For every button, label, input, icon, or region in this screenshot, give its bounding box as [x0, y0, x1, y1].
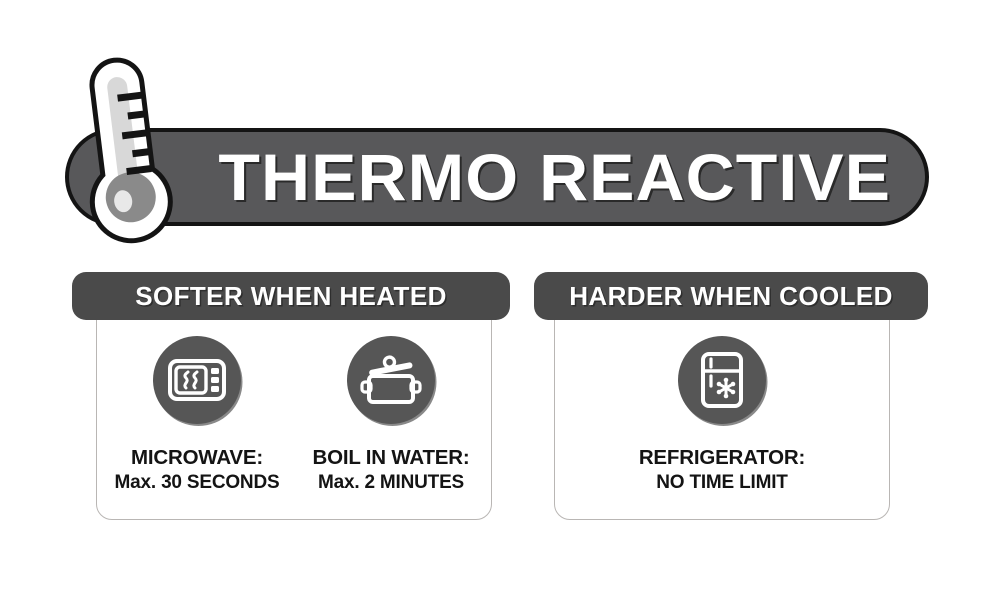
- caption-title: BOIL IN WATER:: [312, 446, 469, 470]
- items-harder-when-cooled: REFRIGERATOR: NO TIME LIMIT: [554, 336, 890, 495]
- items-softer-when-heated: MICROWAVE: Max. 30 SECONDS: [96, 336, 492, 495]
- card-header-softer-when-heated: SOFTER WHEN HEATED: [72, 272, 510, 320]
- caption-subtitle: Max. 2 MINUTES: [312, 472, 469, 494]
- caption-refrigerator: REFRIGERATOR: NO TIME LIMIT: [639, 446, 805, 495]
- card-header-harder-when-cooled: HARDER WHEN COOLED: [534, 272, 928, 320]
- item-refrigerator: REFRIGERATOR: NO TIME LIMIT: [632, 336, 812, 495]
- caption-microwave: MICROWAVE: Max. 30 SECONDS: [115, 446, 280, 495]
- caption-boil-in-water: BOIL IN WATER: Max. 2 MINUTES: [312, 446, 469, 495]
- item-microwave: MICROWAVE: Max. 30 SECONDS: [107, 336, 287, 495]
- refrigerator-icon: [678, 336, 766, 424]
- caption-title: MICROWAVE:: [115, 446, 280, 470]
- thermometer-icon: [72, 52, 188, 248]
- pot-boiling-icon: [347, 336, 435, 424]
- caption-subtitle: NO TIME LIMIT: [639, 472, 805, 494]
- caption-title: REFRIGERATOR:: [639, 446, 805, 470]
- microwave-icon: [153, 336, 241, 424]
- title-banner: THERMO REACTIVE: [65, 128, 929, 226]
- infographic-page: THERMO REACTIVE: [0, 0, 1000, 607]
- card-header-label: HARDER WHEN COOLED: [569, 281, 893, 312]
- card-header-label: SOFTER WHEN HEATED: [135, 281, 447, 312]
- caption-subtitle: Max. 30 SECONDS: [115, 472, 280, 494]
- page-title: THERMO REACTIVE: [218, 144, 891, 210]
- item-boil-in-water: BOIL IN WATER: Max. 2 MINUTES: [301, 336, 481, 495]
